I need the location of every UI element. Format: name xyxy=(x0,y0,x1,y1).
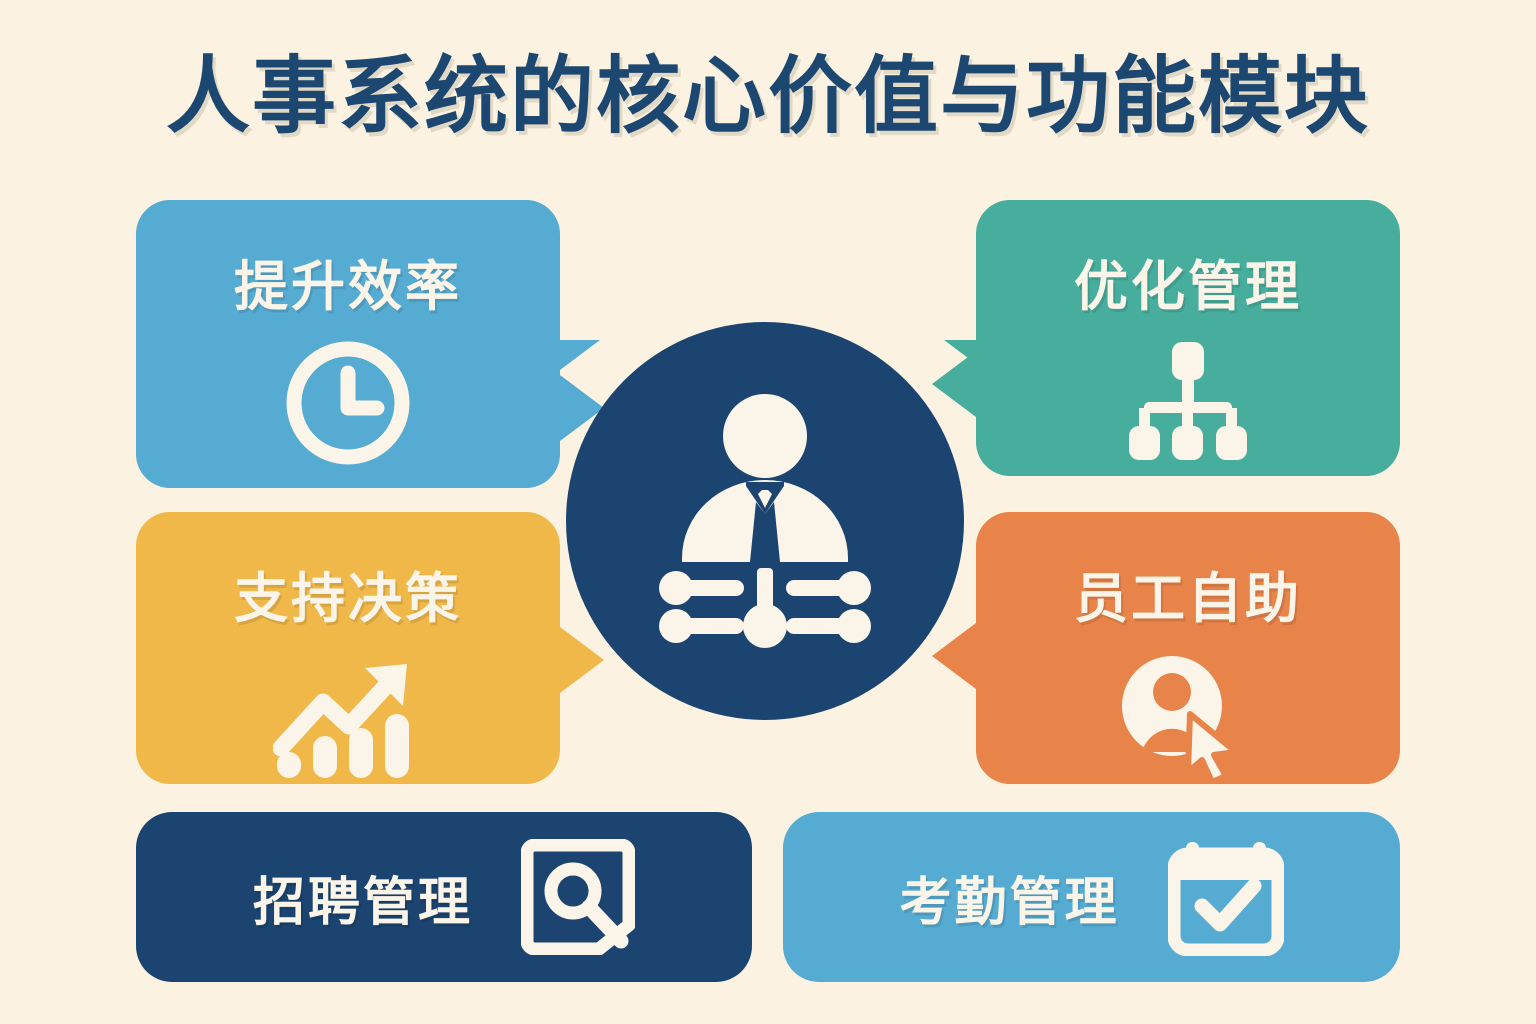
calendar-check-icon xyxy=(1168,838,1284,956)
clock-icon xyxy=(285,340,411,466)
value-card-decision[interactable]: 支持决策 xyxy=(136,512,560,784)
accent-triangle-top-left xyxy=(560,340,600,370)
value-card-selfservice[interactable]: 员工自助 xyxy=(976,512,1400,784)
accent-triangle-bottom-left xyxy=(560,628,600,658)
module-bar-attendance-label: 考勤管理 xyxy=(899,860,1119,935)
value-card-optimize-label: 优化管理 xyxy=(976,242,1400,321)
accent-triangle-bottom-right xyxy=(944,628,984,658)
module-bar-recruit[interactable]: 招聘管理 xyxy=(136,812,752,982)
module-bar-attendance[interactable]: 考勤管理 xyxy=(783,812,1400,982)
value-card-decision-label: 支持决策 xyxy=(136,554,560,633)
businessperson-network-icon xyxy=(634,390,896,652)
document-search-icon xyxy=(521,839,635,955)
value-card-optimize[interactable]: 优化管理 xyxy=(976,200,1400,476)
accent-triangle-top-right xyxy=(944,340,984,370)
org-chart-icon xyxy=(1123,340,1253,462)
center-hub-circle xyxy=(566,322,964,720)
page-title: 人事系统的核心价值与功能模块 xyxy=(0,44,1536,148)
growth-chart-icon xyxy=(273,652,423,782)
value-card-efficiency-label: 提升效率 xyxy=(136,242,560,321)
infographic-canvas: 人事系统的核心价值与功能模块 提升效率 优化管理 xyxy=(0,0,1536,1024)
module-bar-recruit-label: 招聘管理 xyxy=(253,860,473,935)
value-card-selfservice-label: 员工自助 xyxy=(976,554,1400,633)
value-card-efficiency[interactable]: 提升效率 xyxy=(136,200,560,488)
user-cursor-icon xyxy=(1118,652,1258,782)
